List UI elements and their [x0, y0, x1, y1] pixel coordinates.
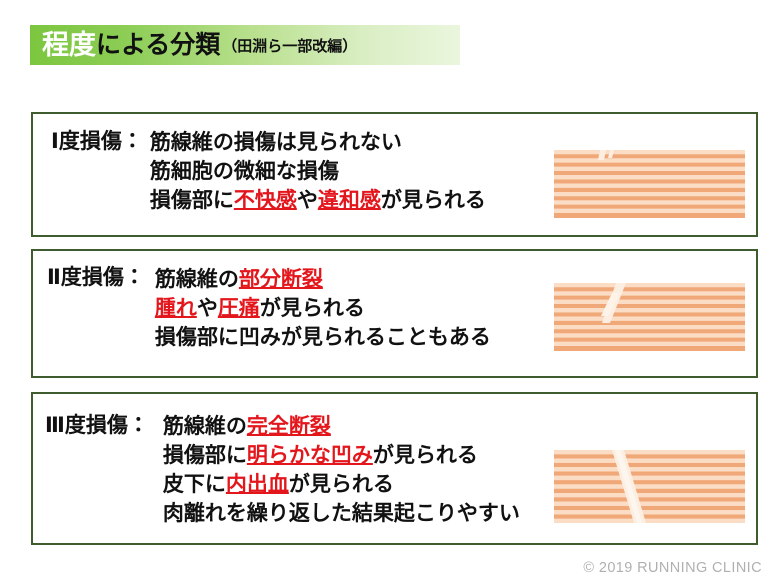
- plain-text: 皮下に: [163, 473, 226, 496]
- grade-line: 損傷部に凹みが見られることもある: [155, 323, 491, 352]
- emphasis-text: 圧痛: [218, 297, 260, 320]
- grade-line: 筋線維の損傷は見られない: [150, 128, 486, 157]
- grade-line: 筋線維の部分断裂: [155, 265, 491, 294]
- grade-line: 肉離れを繰り返した結果起こりやすい: [163, 499, 520, 528]
- emphasis-text: 腫れ: [155, 297, 197, 320]
- copyright-footer: © 2019 RUNNING CLINIC: [583, 560, 762, 576]
- grade-line: 損傷部に明らかな凹みが見られる: [163, 441, 520, 470]
- grade-line: 皮下に内出血が見られる: [163, 470, 520, 499]
- plain-text: が見られる: [373, 444, 478, 467]
- emphasis-text: 部分断裂: [239, 268, 323, 291]
- grade-description-lines: 筋線維の完全断裂損傷部に明らかな凹みが見られる皮下に内出血が見られる肉離れを繰り…: [163, 412, 520, 528]
- plain-text: が見られる: [381, 189, 486, 212]
- muscle-fiber-svg: [554, 283, 745, 351]
- plain-text: 筋線維の: [163, 415, 247, 438]
- emphasis-text: 内出血: [226, 473, 289, 496]
- plain-text: 筋線維の: [155, 268, 239, 291]
- emphasis-text: 不快感: [234, 189, 297, 212]
- title-source-note: （田淵ら一部改編）: [222, 39, 357, 56]
- grade-line: 腫れや圧痛が見られる: [155, 294, 491, 323]
- plain-text: 筋線維の損傷は見られない: [150, 131, 402, 154]
- grade-description-lines: 筋線維の損傷は見られない筋細胞の微細な損傷損傷部に不快感や違和感が見られる: [150, 128, 486, 215]
- title-highlight-text: 程度: [42, 32, 96, 59]
- emphasis-text: 明らかな凹み: [247, 444, 373, 467]
- plain-text: や: [297, 189, 318, 212]
- plain-text: や: [197, 297, 218, 320]
- grade-line: 筋細胞の微細な損傷: [150, 157, 486, 186]
- grade-line: 筋線維の完全断裂: [163, 412, 520, 441]
- grade-description-lines: 筋線維の部分断裂腫れや圧痛が見られる損傷部に凹みが見られることもある: [155, 265, 491, 352]
- muscle-fiber-svg: [554, 450, 745, 523]
- plain-text: が見られる: [260, 297, 365, 320]
- plain-text: 筋細胞の微細な損傷: [150, 160, 339, 183]
- plain-text: 肉離れを繰り返した結果起こりやすい: [163, 502, 520, 525]
- title-rest-text: による分類: [96, 33, 220, 58]
- plain-text: 損傷部に: [163, 444, 247, 467]
- emphasis-text: 違和感: [318, 189, 381, 212]
- grade-line: 損傷部に不快感や違和感が見られる: [150, 186, 486, 215]
- fiber-stripes: [554, 150, 745, 218]
- grade-label: Ⅰ度損傷：: [51, 131, 143, 152]
- fiber-stripes: [554, 283, 745, 351]
- muscle-fiber-partial-tear-icon: [554, 283, 745, 351]
- fiber-stripes: [554, 450, 745, 523]
- muscle-fiber-complete-tear-icon: [554, 450, 745, 523]
- plain-text: 損傷部に: [150, 189, 234, 212]
- muscle-fiber-svg: [554, 150, 745, 218]
- plain-text: が見られる: [289, 473, 394, 496]
- grade-label: Ⅲ度損傷：: [45, 415, 149, 436]
- grade-label: Ⅱ度損傷：: [47, 267, 145, 288]
- emphasis-text: 完全断裂: [247, 415, 331, 438]
- plain-text: 損傷部に凹みが見られることもある: [155, 326, 491, 349]
- muscle-fiber-intact-icon: [554, 150, 745, 218]
- slide-title-bar: 程度 による分類 （田淵ら一部改編）: [30, 25, 460, 65]
